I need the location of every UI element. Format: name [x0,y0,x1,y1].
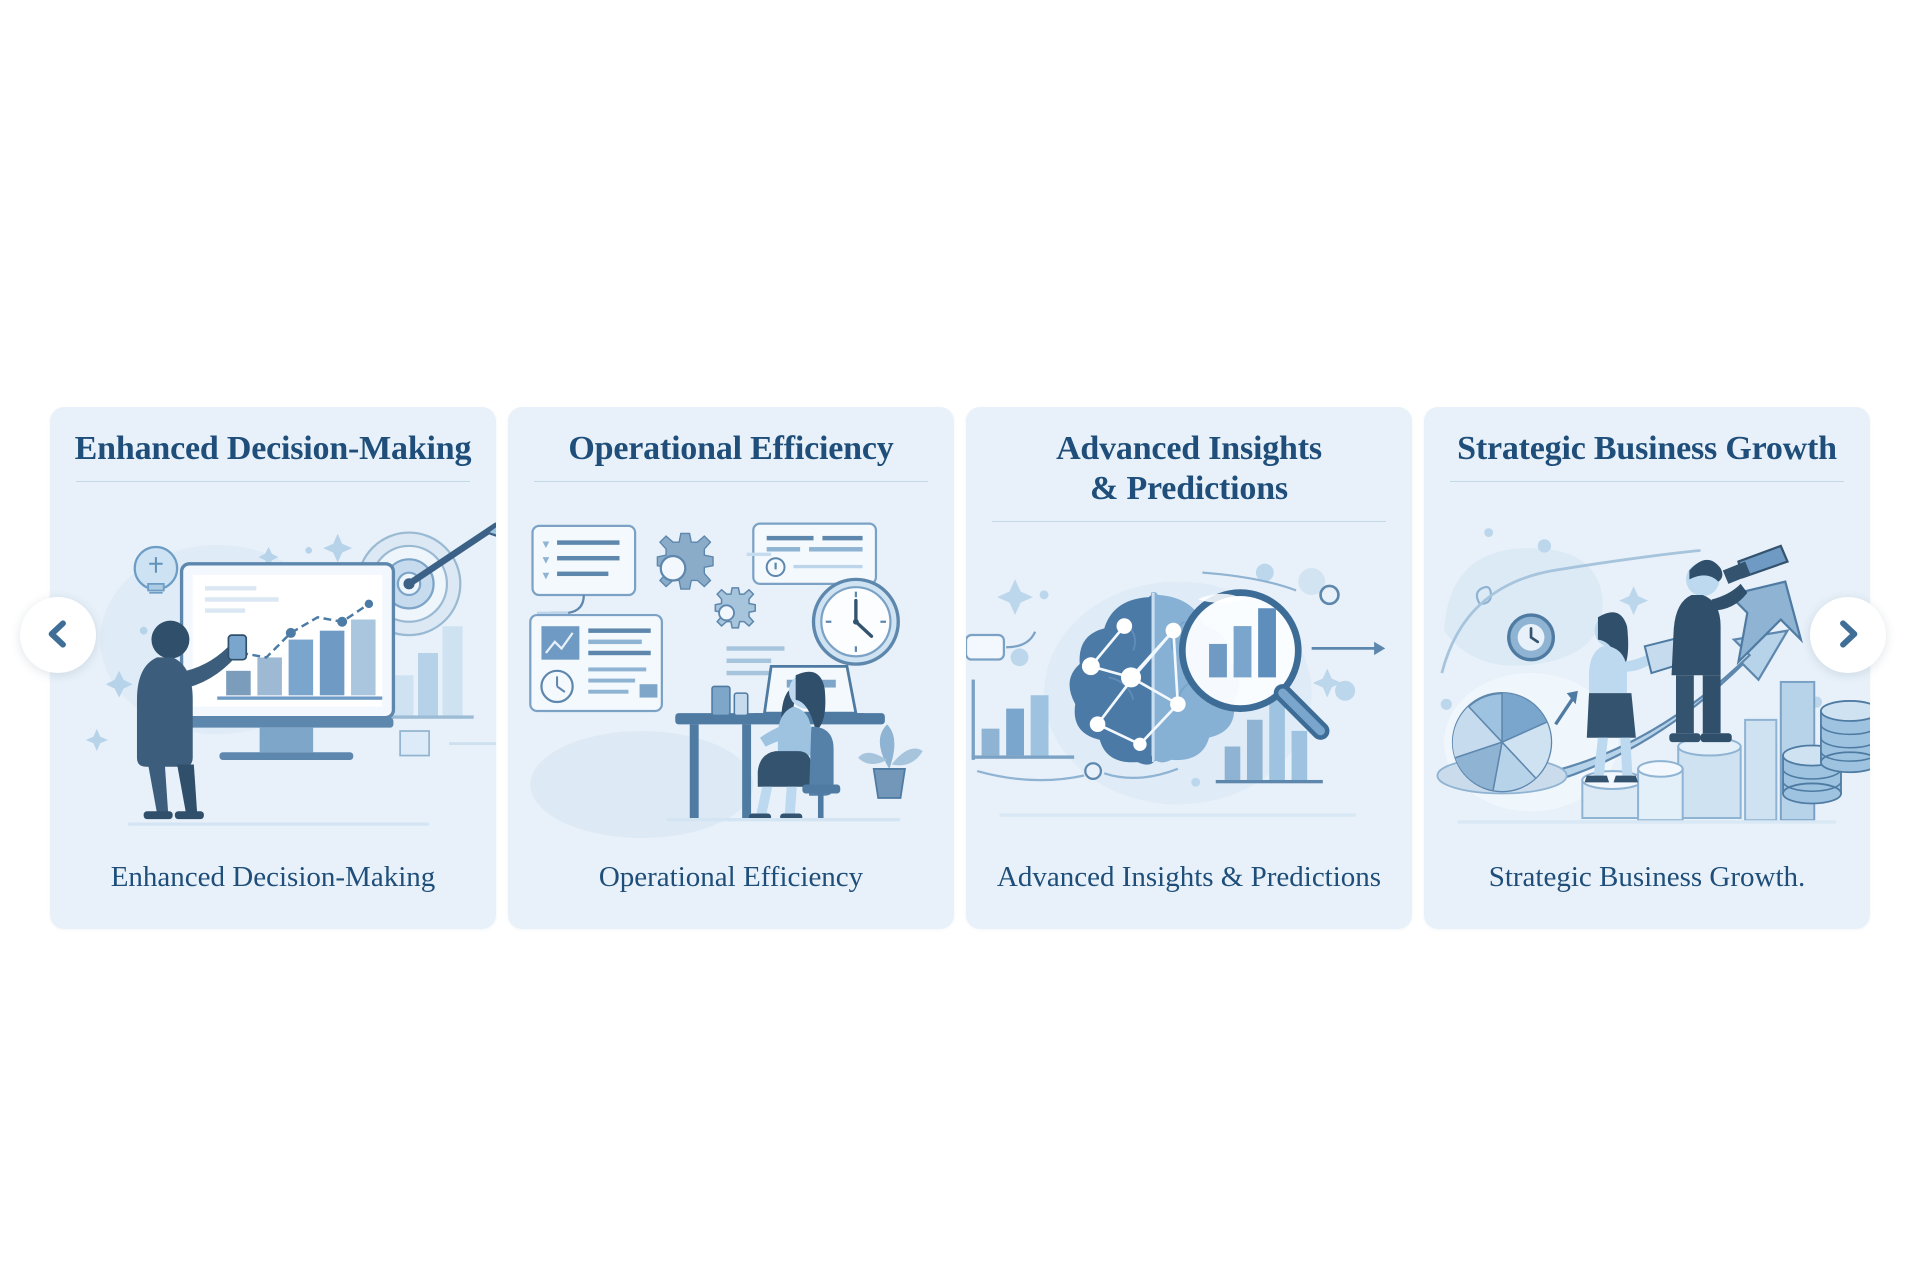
card-title-divider [534,481,928,482]
card-title: Operational Efficiency [508,407,954,469]
card-title-divider [1450,481,1844,482]
carousel-card-advanced-insights-predictions[interactable]: Advanced Insights & Predictions [966,407,1412,929]
card-title: Enhanced Decision-Making [50,407,496,469]
carousel-prev-button[interactable] [20,597,96,673]
illustration-woman-at-desk [508,486,954,860]
card-title-line-2: & Predictions [1090,470,1288,507]
card-caption: Operational Efficiency [508,860,954,929]
carousel-card-enhanced-decision-making[interactable]: Enhanced Decision-Making [50,407,496,929]
card-caption: Advanced Insights & Predictions [966,860,1412,929]
carousel-stage: Enhanced Decision-Making [0,0,1920,1280]
illustration-growth-with-telescope [1424,486,1870,860]
chevron-right-icon [1831,617,1865,654]
card-caption: Enhanced Decision-Making [50,860,496,929]
card-title-divider [992,521,1386,522]
chevron-left-icon [41,617,75,654]
carousel-next-button[interactable] [1810,597,1886,673]
benefits-carousel: Enhanced Decision-Making [50,407,1870,929]
card-caption: Strategic Business Growth. [1424,860,1870,929]
card-title-line-1: Advanced Insights [1056,430,1322,467]
illustration-brain-with-magnifier [966,526,1412,860]
carousel-card-operational-efficiency[interactable]: Operational Efficiency [508,407,954,929]
card-title: Strategic Business Growth [1424,407,1870,469]
carousel-card-strategic-business-growth[interactable]: Strategic Business Growth [1424,407,1870,929]
card-title: Advanced Insights & Predictions [966,407,1412,509]
card-title-divider [76,481,470,482]
illustration-person-at-monitor [50,486,496,860]
